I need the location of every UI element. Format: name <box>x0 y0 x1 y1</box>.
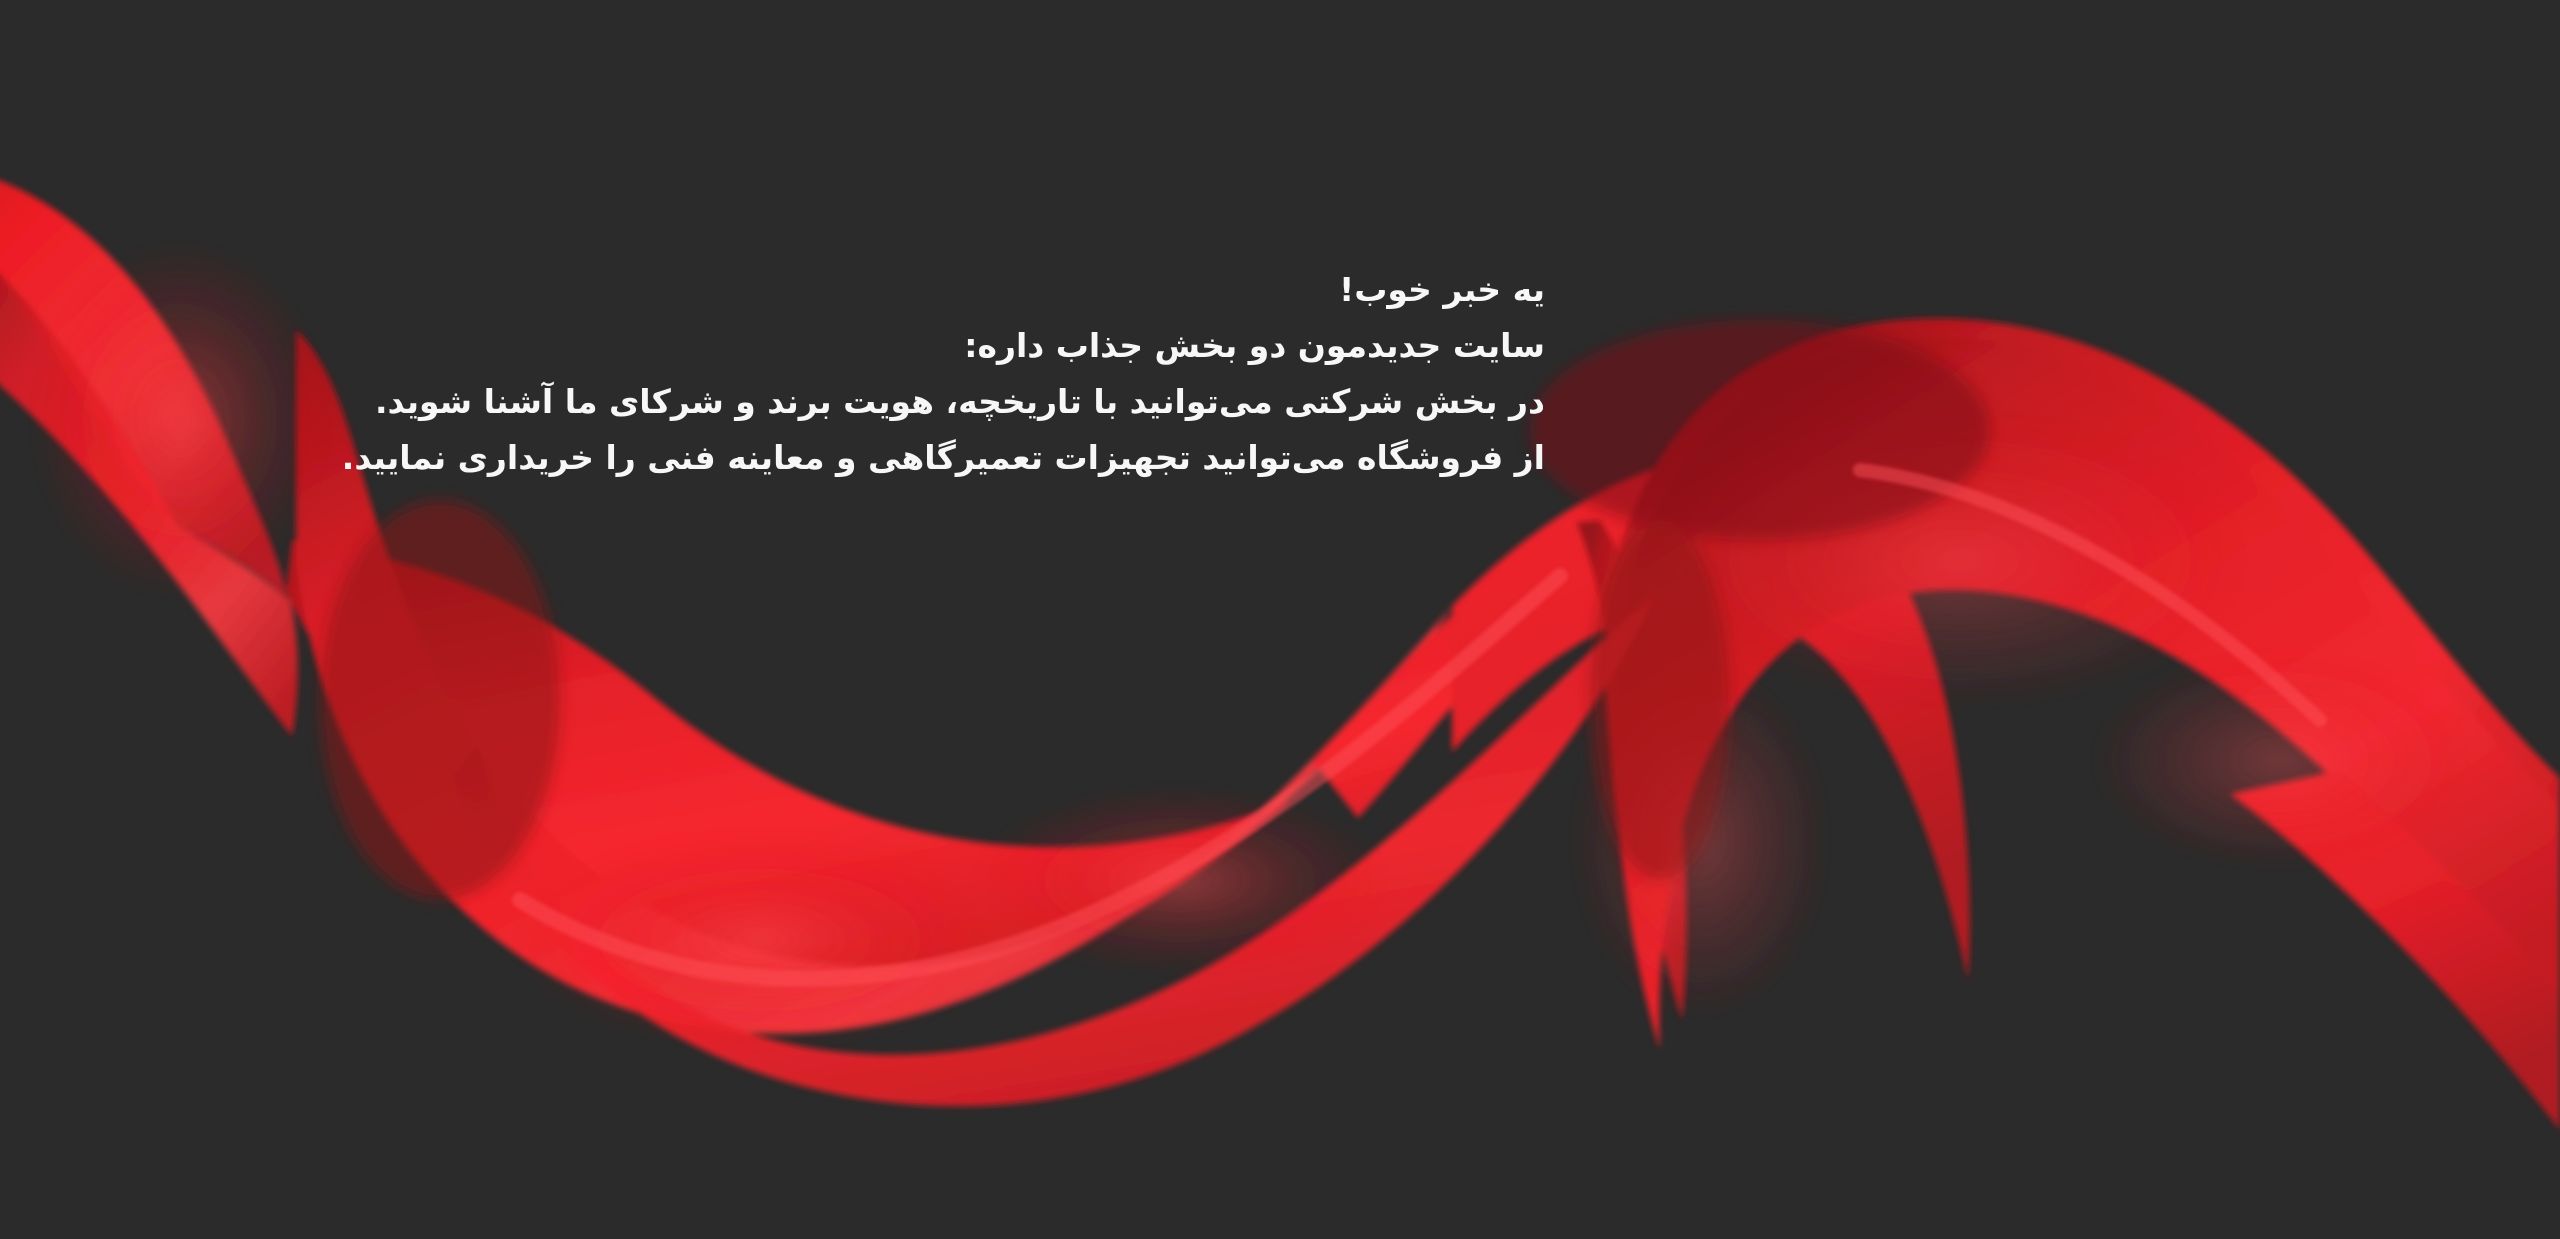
red-wave-ribbon-graphic <box>0 0 2560 1239</box>
message-line-1: یه خبر خوب! <box>0 262 1545 318</box>
message-line-4: از فروشگاه می‌توانید تجهیزات تعمیرگاهی و… <box>0 430 1545 486</box>
banner-canvas: یه خبر خوب! سایت جدیدمون دو بخش جذاب دار… <box>0 0 2560 1239</box>
message-line-2: سایت جدیدمون دو بخش جذاب داره: <box>0 318 1545 374</box>
message-line-3: در بخش شرکتی می‌توانید با تاریخچه، هویت … <box>0 374 1545 430</box>
announcement-message: یه خبر خوب! سایت جدیدمون دو بخش جذاب دار… <box>0 262 1545 486</box>
